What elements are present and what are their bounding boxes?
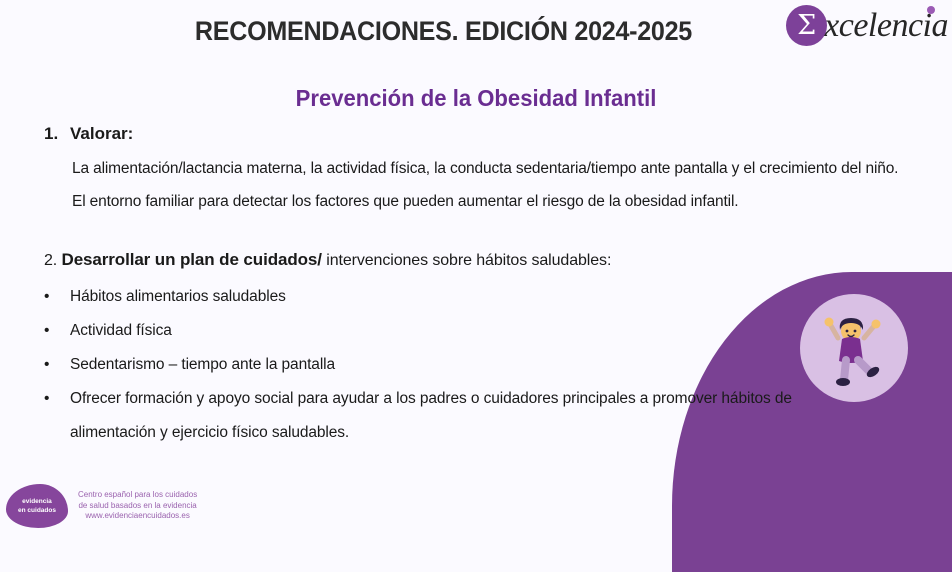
list-item: • Ofrecer formación y apoyo social para … [44, 382, 952, 450]
paragraph: La alimentación/lactancia materna, la ac… [72, 152, 952, 185]
sigma-icon: Σ [786, 5, 827, 46]
list-item-2-heading: 2. Desarrollar un plan de cuidados/ inte… [44, 250, 952, 270]
footer-line-2: de salud basados en la evidencia [78, 501, 197, 512]
footer-description: Centro español para los cuidados de salu… [78, 490, 197, 522]
list-item-label: Ofrecer formación y apoyo social para ay… [70, 382, 952, 450]
list-item-2-bullets: • Hábitos alimentarios saludables • Acti… [44, 280, 952, 450]
list-item-2-bold-label: Desarrollar un plan de cuidados/ [62, 250, 322, 269]
list-item-label: Actividad física [70, 314, 952, 348]
evidencia-badge-line2: en cuidados [18, 506, 56, 515]
footer-url[interactable]: www.evidenciaencuidados.es [78, 511, 197, 522]
evidencia-badge-icon: evidencia en cuidados [6, 484, 68, 528]
slide-content: 1. Valorar: La alimentación/lactancia ma… [0, 124, 952, 450]
list-item-2-rest: intervenciones sobre hábitos saludables: [322, 252, 611, 269]
list-item-1-label: Valorar: [70, 124, 133, 144]
bullet-icon: • [44, 348, 70, 382]
list-item-2-number: 2. [44, 252, 57, 269]
list-item-1-heading: 1. Valorar: [44, 124, 952, 144]
list-item-1-number: 1. [44, 124, 70, 144]
paragraph: El entorno familiar para detectar los fa… [72, 185, 952, 218]
slide-header: RECOMENDACIONES. EDICIÓN 2024-2025 Σ xce… [0, 0, 952, 62]
list-item-label: Sedentarismo – tiempo ante la pantalla [70, 348, 952, 382]
excelencia-logo-text: xcelencia [824, 7, 948, 43]
list-item-1-paragraphs: La alimentación/lactancia materna, la ac… [44, 152, 952, 218]
bullet-icon: • [44, 280, 70, 314]
list-item-label: Hábitos alimentarios saludables [70, 280, 952, 314]
list-item: • Hábitos alimentarios saludables [44, 280, 952, 314]
bullet-icon: • [44, 382, 70, 450]
footer-logo: evidencia en cuidados Centro español par… [6, 484, 197, 528]
excelencia-logo: Σ xcelencia [786, 4, 948, 46]
list-item: • Sedentarismo – tiempo ante la pantalla [44, 348, 952, 382]
bullet-icon: • [44, 314, 70, 348]
slide-subtitle: Prevención de la Obesidad Infantil [19, 85, 933, 112]
list-item: • Actividad física [44, 314, 952, 348]
logo-dot-icon [927, 6, 935, 14]
footer-line-1: Centro español para los cuidados [78, 490, 197, 501]
evidencia-badge-line1: evidencia [22, 497, 52, 506]
